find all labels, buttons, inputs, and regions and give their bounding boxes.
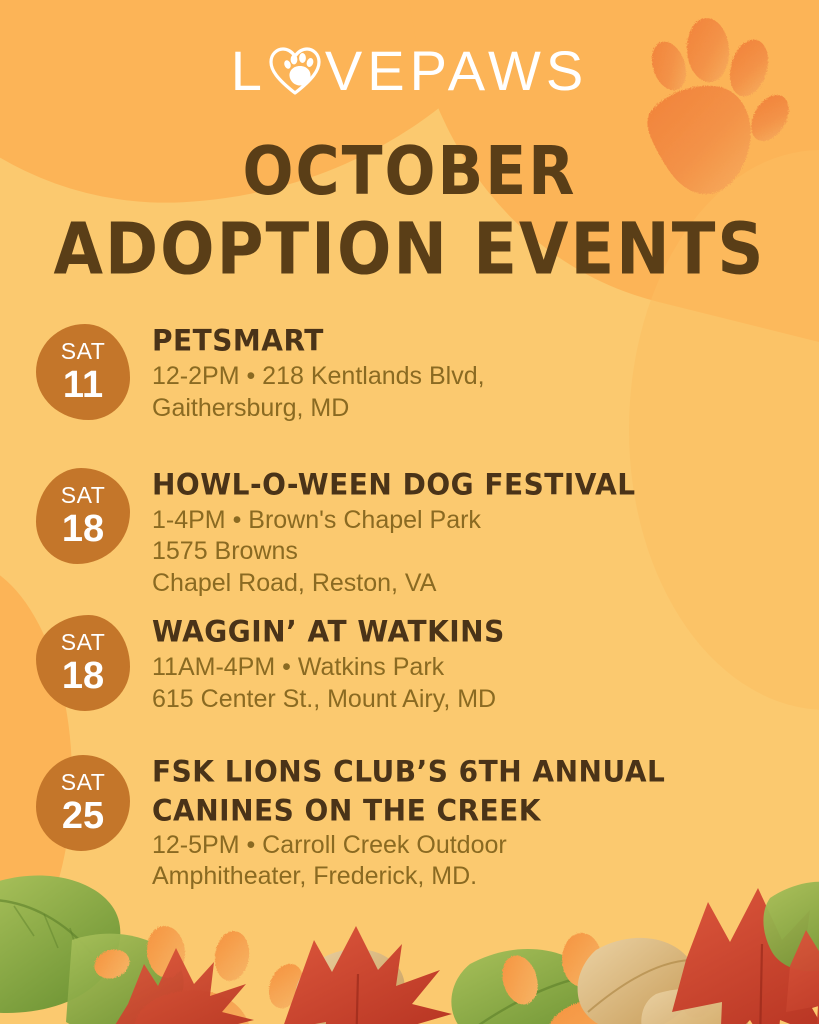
leaf-red-left [112,948,254,1024]
badge-day-number: 25 [62,797,104,835]
title-line-2: ADOPTION EVENTS [0,214,819,288]
logo-text-after: VEPAWS [325,43,588,99]
heart-paw-icon [267,43,323,99]
logo-text-before: L [231,43,267,99]
leaf-red-center [282,926,452,1024]
event-title: WAGGIN’ AT WATKINS [152,615,783,648]
date-badge: SAT 18 [36,615,130,711]
badge-day-of-week: SAT [61,340,106,363]
event-body: PETSMART 12-2PM • 218 Kentlands Blvd, Ga… [152,322,783,424]
event-title-line: HOWL-O-WEEN DOG FESTIVAL [152,468,783,501]
paw-print-bottom-left [90,924,309,1024]
event-title: PETSMART [152,324,783,357]
event-detail-line: 12-2PM • 218 Kentlands Blvd, [152,361,783,392]
event-body: WAGGIN’ AT WATKINS 11AM-4PM • Watkins Pa… [152,613,783,715]
event-detail-line: Gaithersburg, MD [152,393,783,424]
event-title-line: CANINES ON THE CREEK [152,794,783,827]
badge-day-of-week: SAT [61,771,106,794]
leaf-red-far-right [786,922,819,1024]
date-badge: SAT 11 [36,324,130,420]
event-detail-line: Chapel Road, Reston, VA [152,568,783,599]
badge-day-number: 11 [63,366,103,404]
badge-day-of-week: SAT [61,484,106,507]
event-item: SAT 11 PETSMART 12-2PM • 218 Kentlands B… [36,322,783,424]
event-detail: 1-4PM • Brown's Chapel Park 1575 Browns … [152,505,783,599]
event-detail: 11AM-4PM • Watkins Park 615 Center St., … [152,652,783,715]
event-title-line: PETSMART [152,324,783,357]
event-title-line: FSK LIONS CLUB’S 6TH ANNUAL [152,755,783,788]
leaf-red-right [672,888,819,1024]
brand-logo: L VEPAWS [0,34,819,108]
event-title: FSK LIONS CLUB’S 6TH ANNUAL CANINES ON T… [152,755,783,828]
date-badge: SAT 25 [36,755,130,851]
date-badge: SAT 18 [36,468,130,564]
event-detail-line: 1-4PM • Brown's Chapel Park [152,505,783,536]
event-item: SAT 18 WAGGIN’ AT WATKINS 11AM-4PM • Wat… [36,613,783,715]
badge-day-number: 18 [62,510,104,548]
event-detail-line: 11AM-4PM • Watkins Park [152,652,783,683]
badge-day-of-week: SAT [61,631,106,654]
event-detail-line: Amphitheater, Frederick, MD. [152,861,783,892]
paw-print-bottom-right [497,932,725,1024]
page-title: OCTOBER ADOPTION EVENTS [0,138,819,280]
event-detail-line: 1575 Browns [152,536,783,567]
event-body: FSK LIONS CLUB’S 6TH ANNUAL CANINES ON T… [152,753,783,892]
event-detail: 12-5PM • Carroll Creek Outdoor Amphithea… [152,830,783,893]
leaf-gold-left [296,949,405,1024]
events-list: SAT 11 PETSMART 12-2PM • 218 Kentlands B… [36,322,783,892]
title-line-1: OCTOBER [0,138,819,207]
event-title: HOWL-O-WEEN DOG FESTIVAL [152,468,783,501]
event-item: SAT 25 FSK LIONS CLUB’S 6TH ANNUAL CANIN… [36,753,783,892]
event-title-line: WAGGIN’ AT WATKINS [152,615,783,648]
adoption-events-poster: L VEPAWS OCTOBER ADOPTION EVENTS [0,0,819,1024]
leaf-green-left-2 [66,934,184,1024]
leaf-green-left [0,875,120,1013]
badge-day-number: 18 [62,657,104,695]
leaf-gold-right-2 [641,989,748,1024]
leaf-gold-right [578,938,697,1024]
event-body: HOWL-O-WEEN DOG FESTIVAL 1-4PM • Brown's… [152,466,783,599]
leaf-green-far-right [763,882,819,971]
event-detail-line: 12-5PM • Carroll Creek Outdoor [152,830,783,861]
event-detail: 12-2PM • 218 Kentlands Blvd, Gaithersbur… [152,361,783,424]
leaf-green-center-right [451,949,603,1024]
event-item: SAT 18 HOWL-O-WEEN DOG FESTIVAL 1-4PM • … [36,466,783,599]
event-detail-line: 615 Center St., Mount Airy, MD [152,684,783,715]
